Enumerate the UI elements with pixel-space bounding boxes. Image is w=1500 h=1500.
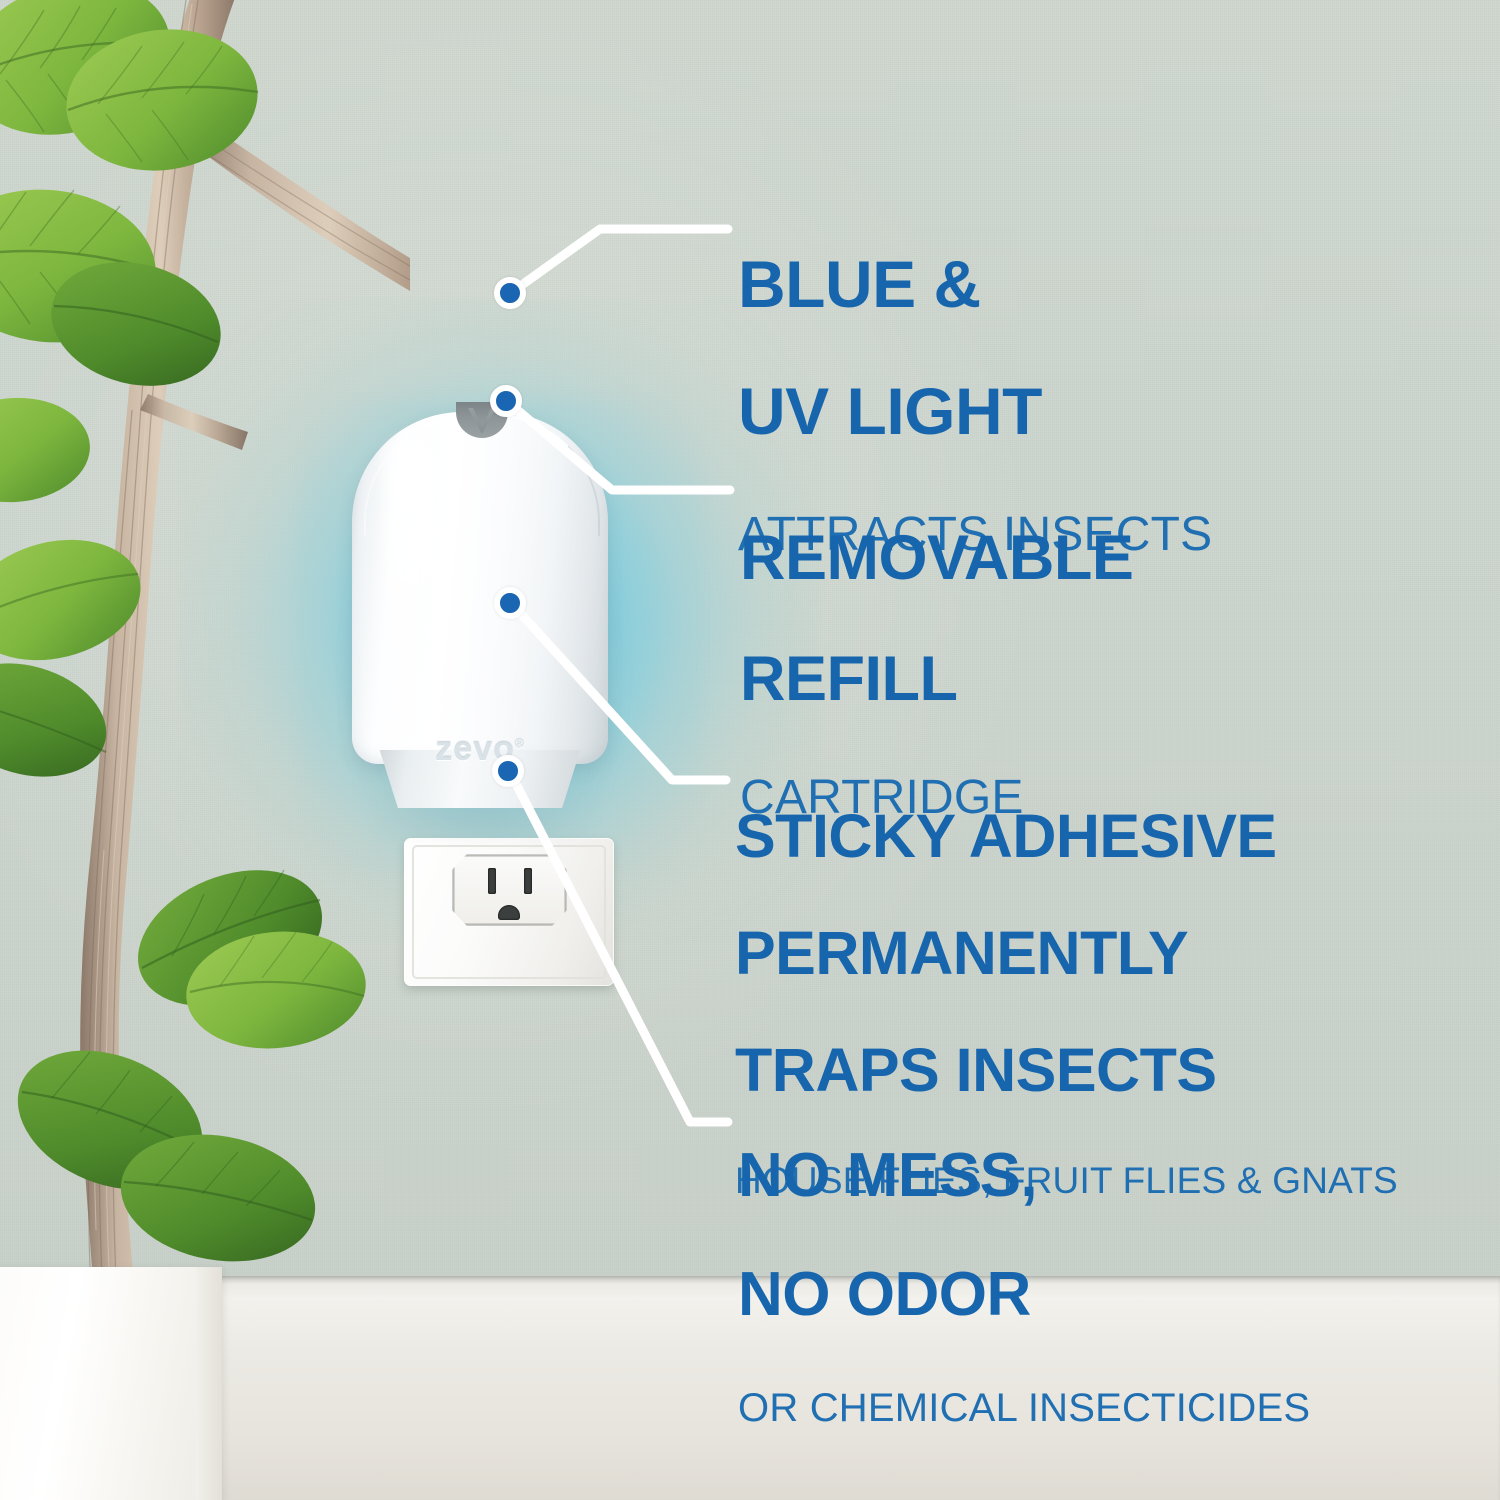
trademark-symbol: ® bbox=[515, 737, 525, 751]
callout-dot-blue-uv-light[interactable] bbox=[494, 277, 526, 309]
infographic-canvas: zevo® BLUE & UV LIGHT ATTRACTS INSECTS R… bbox=[0, 0, 1500, 1500]
callout-1-title-line2: UV LIGHT bbox=[738, 380, 1212, 443]
callout-1-title: BLUE & UV LIGHT bbox=[738, 190, 1212, 507]
white-planter-pot bbox=[0, 1267, 222, 1500]
callout-dot-no-mess-no-odor[interactable] bbox=[492, 755, 524, 787]
callout-4-subtitle: OR CHEMICAL INSECTICIDES bbox=[738, 1388, 1310, 1429]
callout-3-title-line1: STICKY ADHESIVE bbox=[735, 807, 1398, 866]
callout-2-title: REMOVABLE REFILL bbox=[740, 468, 1133, 770]
callout-2-title-line1: REMOVABLE bbox=[740, 528, 1133, 588]
outlet-ground-hole bbox=[498, 905, 520, 920]
callout-3-title-line2: PERMANENTLY bbox=[735, 924, 1398, 983]
callout-dot-sticky-adhesive[interactable] bbox=[494, 587, 526, 619]
planter-right-edge bbox=[196, 1267, 222, 1500]
callout-4-title-line2: NO ODOR bbox=[738, 1265, 1310, 1325]
callout-no-mess-no-odor: NO MESS, NO ODOR OR CHEMICAL INSECTICIDE… bbox=[738, 1086, 1310, 1428]
callout-4-title: NO MESS, NO ODOR bbox=[738, 1086, 1310, 1384]
zevo-plug-in-device: zevo® bbox=[352, 398, 608, 818]
callout-dot-removable-refill[interactable] bbox=[490, 385, 522, 417]
callout-1-title-line1: BLUE & bbox=[738, 253, 1212, 316]
outlet-slot-right bbox=[524, 868, 532, 894]
callout-4-title-line1: NO MESS, bbox=[738, 1146, 1310, 1206]
callout-2-title-line2: REFILL bbox=[740, 649, 1133, 709]
outlet-slot-left bbox=[488, 868, 496, 894]
